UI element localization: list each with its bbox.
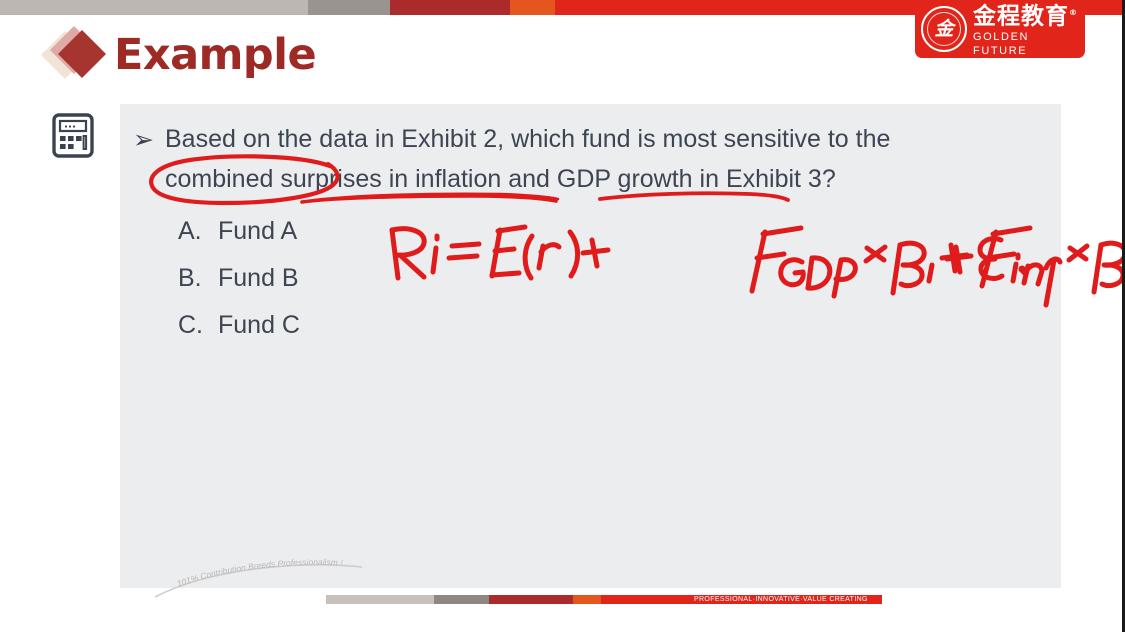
registered-mark: ® [1069,8,1078,17]
option-b[interactable]: B. Fund B [178,255,300,302]
footer-slogan: PROFESSIONAL·INNOVATIVE·VALUE CREATING [694,594,868,605]
top-bar-segment-orange [510,0,555,15]
top-bar-segment-mid-gray [308,0,390,15]
brand-seal-mark: 金 [934,20,953,39]
diamond-decoration-icon [46,26,108,84]
calculator-icon [52,113,94,158]
footer-arc-text: 101% Contribution Breeds Professionalism… [175,557,343,589]
page-title-row: Example [46,26,316,84]
footer-bar-segment-mid-gray [434,595,489,604]
option-b-label: Fund B [218,255,300,302]
bullet-arrow-icon: ➢ [133,119,165,199]
footer-arc-slogan: 101% Contribution Breeds Professionalism… [150,555,380,600]
top-bar-segment-dark-red [390,0,510,15]
option-b-key: B. [178,255,218,302]
content-panel: ➢ Based on the data in Exhibit 2, which … [120,104,1061,588]
question-line-1: Based on the data in Exhibit 2, which fu… [165,125,890,153]
footer-bar-segment-dark-red [489,595,573,604]
answer-options: A. Fund A B. Fund B C. Fund C [178,208,300,349]
top-bar-segment-light-gray [0,0,308,15]
svg-text:101% Contribution Breeds Profe: 101% Contribution Breeds Professionalism… [175,557,343,589]
question-block: ➢ Based on the data in Exhibit 2, which … [133,119,1051,199]
question-text: Based on the data in Exhibit 2, which fu… [165,119,1051,199]
option-a[interactable]: A. Fund A [178,208,300,255]
option-a-key: A. [178,208,218,255]
option-c-label: Fund C [218,302,300,349]
white-overlay-artifact [725,30,881,87]
option-a-label: Fund A [218,208,300,255]
brand-name-cn: 金程教育® [973,0,1085,30]
footer-bar-segment-light-gray [326,595,434,604]
footer-bar-segment-orange [573,595,601,604]
brand-name-en: GOLDEN FUTURE [973,30,1085,58]
option-c[interactable]: C. Fund C [178,302,300,349]
brand-name-cn-text: 金程教育 [973,4,1069,30]
brand-seal-icon: 金 [921,6,967,52]
option-c-key: C. [178,302,218,349]
brand-text: 金程教育® GOLDEN FUTURE [973,0,1085,58]
brand-badge: 金 金程教育® GOLDEN FUTURE [915,0,1085,58]
slide-canvas: 金 金程教育® GOLDEN FUTURE Example ➢ [0,0,1125,632]
page-title: Example [114,34,316,77]
question-line-2: combined surprises in inflation and GDP … [165,159,1051,199]
